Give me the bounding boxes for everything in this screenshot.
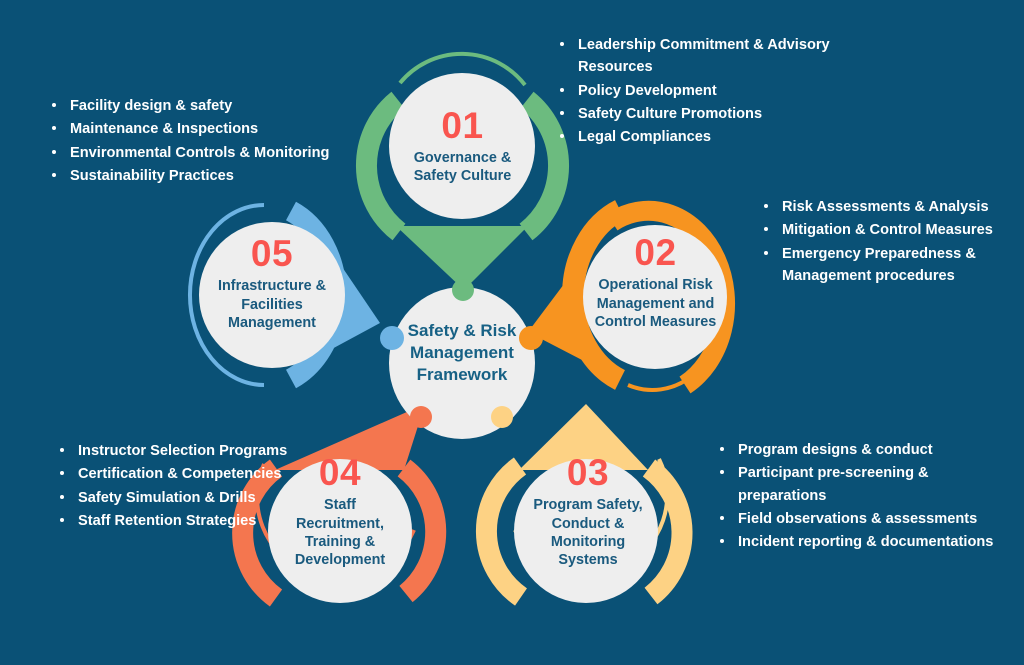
bullet-dot-icon xyxy=(560,111,564,115)
bullet-dot-icon xyxy=(720,516,724,520)
bullet-dot-icon xyxy=(60,518,64,522)
bullet-dot-icon xyxy=(720,447,724,451)
bullet-dot-icon xyxy=(720,539,724,543)
bullet-text: Mitigation & Control Measures xyxy=(782,219,1010,241)
bullet-dot-icon xyxy=(764,227,768,231)
bullet-item: Participant pre-screening & preparations xyxy=(716,462,996,507)
bullet-item: Safety Culture Promotions xyxy=(556,103,856,125)
bullet-text: Staff Retention Strategies xyxy=(78,510,296,532)
node-05-circle[interactable] xyxy=(199,222,345,368)
node-03-graphics[interactable] xyxy=(486,404,682,603)
bullet-list-02: Risk Assessments & AnalysisMitigation & … xyxy=(760,196,1010,287)
bullet-dot-icon xyxy=(764,251,768,255)
bullet-item: Environmental Controls & Monitoring xyxy=(48,142,368,164)
bullet-text: Emergency Preparedness & Management proc… xyxy=(782,243,1010,288)
node-05-bullet-list: Facility design & safetyMaintenance & In… xyxy=(48,95,368,188)
node-03-circle[interactable] xyxy=(514,459,658,603)
bullet-dot-icon xyxy=(52,173,56,177)
bullet-text: Legal Compliances xyxy=(578,126,856,148)
bullet-item: Mitigation & Control Measures xyxy=(760,219,1010,241)
bullet-text: Instructor Selection Programs xyxy=(78,440,296,462)
bullet-list-04: Instructor Selection ProgramsCertificati… xyxy=(56,440,296,532)
node-05-graphics[interactable] xyxy=(190,205,380,385)
bullet-dot-icon xyxy=(60,471,64,475)
bullet-dot-icon xyxy=(560,42,564,46)
hub-dot-amber xyxy=(491,406,513,428)
bullet-list-05: Facility design & safetyMaintenance & In… xyxy=(48,95,368,187)
bullet-item: Safety Simulation & Drills xyxy=(56,487,296,509)
bullet-text: Maintenance & Inspections xyxy=(70,118,368,140)
bullet-item: Maintenance & Inspections xyxy=(48,118,368,140)
bullet-text: Facility design & safety xyxy=(70,95,368,117)
bullet-dot-icon xyxy=(560,88,564,92)
bullet-item: Facility design & safety xyxy=(48,95,368,117)
bullet-text: Certification & Competencies xyxy=(78,463,296,485)
bullet-dot-icon xyxy=(52,150,56,154)
bullet-text: Incident reporting & documentations xyxy=(738,531,996,553)
bullet-text: Participant pre-screening & preparations xyxy=(738,462,996,507)
bullet-text: Policy Development xyxy=(578,80,856,102)
bullet-text: Risk Assessments & Analysis xyxy=(782,196,1010,218)
bullet-dot-icon xyxy=(52,103,56,107)
node-01-graphics[interactable] xyxy=(366,54,558,290)
node-02-bullet-list: Risk Assessments & AnalysisMitigation & … xyxy=(760,196,1010,288)
bullet-text: Environmental Controls & Monitoring xyxy=(70,142,368,164)
bullet-text: Safety Simulation & Drills xyxy=(78,487,296,509)
bullet-list-01: Leadership Commitment & Advisory Resourc… xyxy=(556,34,856,149)
node-02-graphics[interactable] xyxy=(528,210,727,390)
node-01-circle[interactable] xyxy=(389,73,535,219)
bullet-dot-icon xyxy=(560,134,564,138)
hub-dot-orange xyxy=(519,326,543,350)
bullet-dot-icon xyxy=(60,448,64,452)
bullet-text: Leadership Commitment & Advisory Resourc… xyxy=(578,34,856,79)
bullet-text: Safety Culture Promotions xyxy=(578,103,856,125)
bullet-item: Incident reporting & documentations xyxy=(716,531,996,553)
bullet-item: Policy Development xyxy=(556,80,856,102)
bullet-dot-icon xyxy=(764,204,768,208)
node-01-bullet-list: Leadership Commitment & Advisory Resourc… xyxy=(556,34,856,150)
hub-dot-green xyxy=(452,279,474,301)
bullet-dot-icon xyxy=(52,126,56,130)
bullet-dot-icon xyxy=(60,495,64,499)
bullet-item: Legal Compliances xyxy=(556,126,856,148)
node-02-circle[interactable] xyxy=(583,225,727,369)
bullet-item: Sustainability Practices xyxy=(48,165,368,187)
diagram-canvas: Safety & Risk Management Framework 01 Go… xyxy=(0,0,1024,665)
bullet-item: Program designs & conduct xyxy=(716,439,996,461)
bullet-dot-icon xyxy=(720,470,724,474)
hub-dot-blue xyxy=(380,326,404,350)
bullet-item: Leadership Commitment & Advisory Resourc… xyxy=(556,34,856,79)
node-03-bullet-list: Program designs & conductParticipant pre… xyxy=(716,439,996,555)
bullet-item: Staff Retention Strategies xyxy=(56,510,296,532)
bullet-item: Certification & Competencies xyxy=(56,463,296,485)
node-04-bullet-list: Instructor Selection ProgramsCertificati… xyxy=(56,440,296,533)
bullet-text: Program designs & conduct xyxy=(738,439,996,461)
bullet-item: Risk Assessments & Analysis xyxy=(760,196,1010,218)
bullet-text: Field observations & assessments xyxy=(738,508,996,530)
bullet-item: Instructor Selection Programs xyxy=(56,440,296,462)
bullet-text: Sustainability Practices xyxy=(70,165,368,187)
hub-dot-coral xyxy=(410,406,432,428)
bullet-item: Emergency Preparedness & Management proc… xyxy=(760,243,1010,288)
bullet-list-03: Program designs & conductParticipant pre… xyxy=(716,439,996,554)
bullet-item: Field observations & assessments xyxy=(716,508,996,530)
